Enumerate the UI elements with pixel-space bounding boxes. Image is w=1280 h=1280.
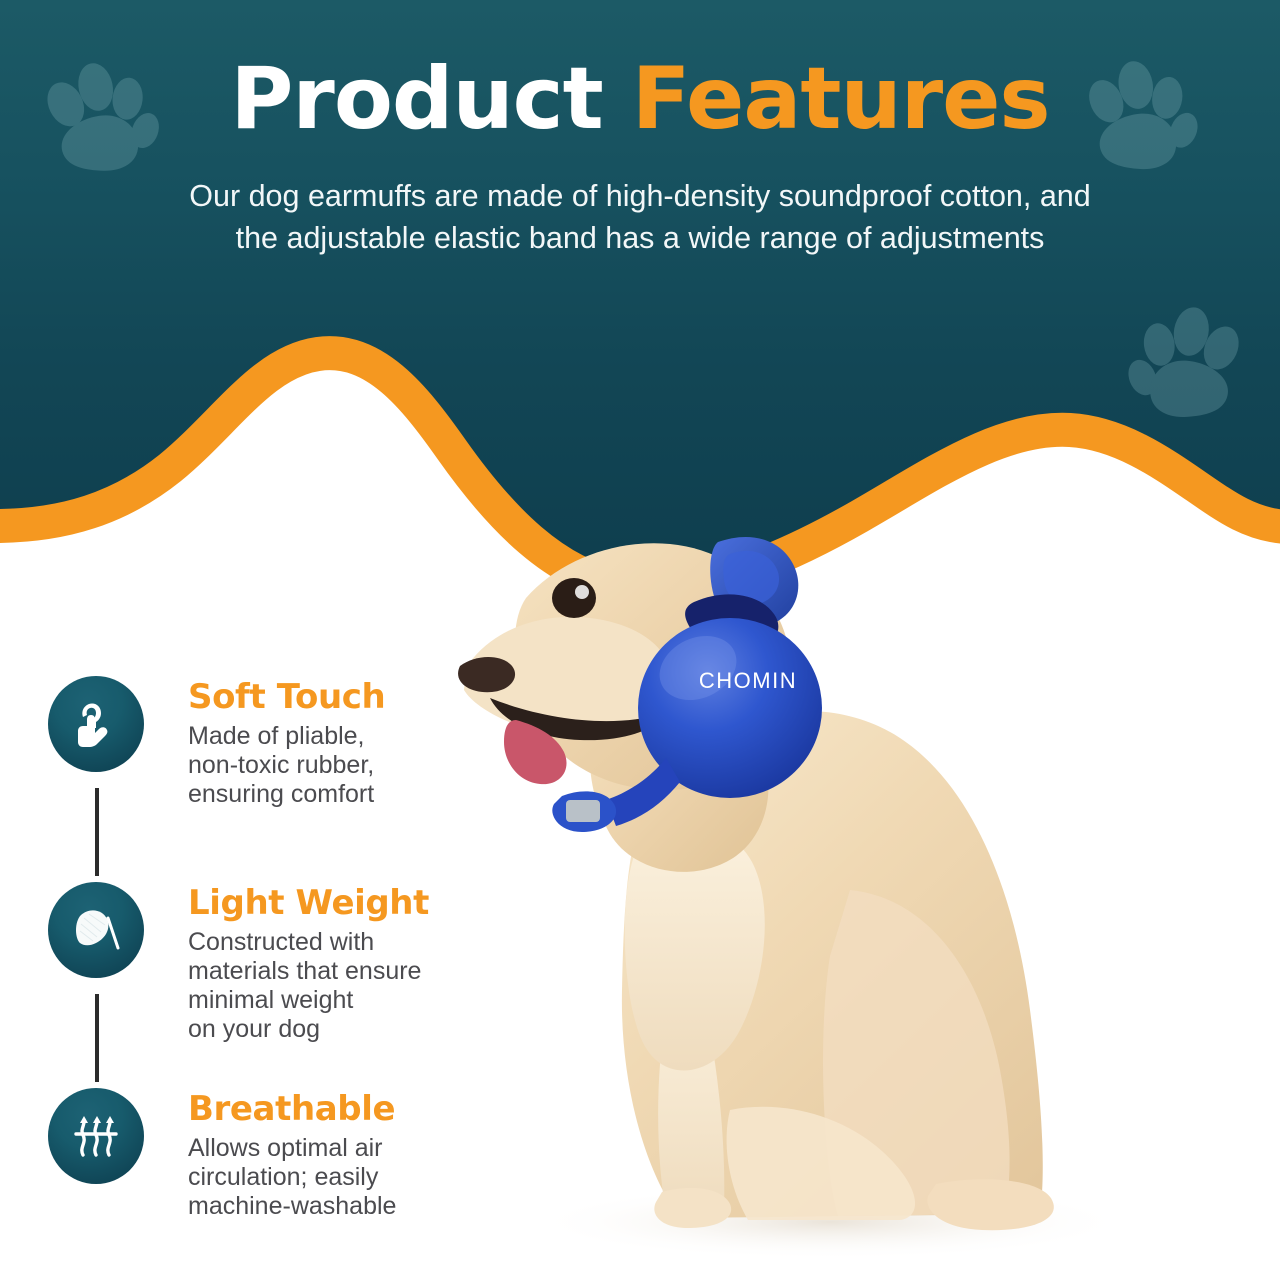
feature-connector-line — [95, 788, 99, 876]
pointing-hand-icon — [69, 697, 123, 751]
airflow-icon — [69, 1109, 123, 1163]
feature-icon-badge — [48, 1088, 144, 1184]
feature-item-breathable[interactable]: Breathable Allows optimal air circulatio… — [48, 1088, 568, 1221]
feature-description: Allows optimal air circulation; easily m… — [188, 1134, 396, 1222]
page-subtitle: Our dog earmuffs are made of high-densit… — [70, 175, 1210, 259]
dog-eye — [552, 578, 596, 618]
feature-title: Soft Touch — [188, 680, 385, 716]
earmuff-brand-label: CHOMIN — [699, 668, 797, 693]
title-word-product: Product — [230, 49, 602, 149]
feature-title: Breathable — [188, 1092, 396, 1128]
feature-desc-line: non-toxic rubber, — [188, 751, 385, 780]
feature-desc-line: on your dog — [188, 1015, 429, 1044]
feature-icon-column — [48, 676, 188, 772]
dog-eye-highlight — [575, 585, 589, 599]
title-word-features: Features — [632, 49, 1050, 149]
feature-connector-line — [95, 994, 99, 1082]
feature-description: Made of pliable, non-toxic rubber, ensur… — [188, 722, 385, 810]
feature-description: Constructed with materials that ensure m… — [188, 928, 429, 1045]
feature-text-block: Light Weight Constructed with materials … — [188, 882, 429, 1045]
subtitle-line-1: Our dog earmuffs are made of high-densit… — [70, 175, 1210, 217]
feature-icon-badge — [48, 676, 144, 772]
feature-text-block: Breathable Allows optimal air circulatio… — [188, 1088, 396, 1221]
earmuff-buckle-plate — [566, 800, 600, 822]
feature-text-block: Soft Touch Made of pliable, non-toxic ru… — [188, 676, 385, 809]
feature-desc-line: circulation; easily — [188, 1163, 396, 1192]
feature-item-soft-touch[interactable]: Soft Touch Made of pliable, non-toxic ru… — [48, 676, 568, 882]
feature-icon-column — [48, 882, 188, 978]
feature-item-light-weight[interactable]: Light Weight Constructed with materials … — [48, 882, 568, 1088]
feature-list: Soft Touch Made of pliable, non-toxic ru… — [48, 676, 568, 1221]
product-features-infographic: Product Features Our dog earmuffs are ma… — [0, 0, 1280, 1280]
feature-icon-badge — [48, 882, 144, 978]
feature-desc-line: ensuring comfort — [188, 780, 385, 809]
page-title: Product Features — [0, 56, 1280, 142]
feature-icon-column — [48, 1088, 188, 1184]
feature-desc-line: Made of pliable, — [188, 722, 385, 751]
dog-front-paw — [654, 1188, 731, 1228]
feature-title: Light Weight — [188, 886, 429, 922]
subtitle-line-2: the adjustable elastic band has a wide r… — [70, 217, 1210, 259]
feature-desc-line: machine-washable — [188, 1192, 396, 1221]
feature-desc-line: Constructed with — [188, 928, 429, 957]
feature-desc-line: minimal weight — [188, 986, 429, 1015]
feature-desc-line: Allows optimal air — [188, 1134, 396, 1163]
feather-icon — [68, 902, 124, 958]
feature-desc-line: materials that ensure — [188, 957, 429, 986]
